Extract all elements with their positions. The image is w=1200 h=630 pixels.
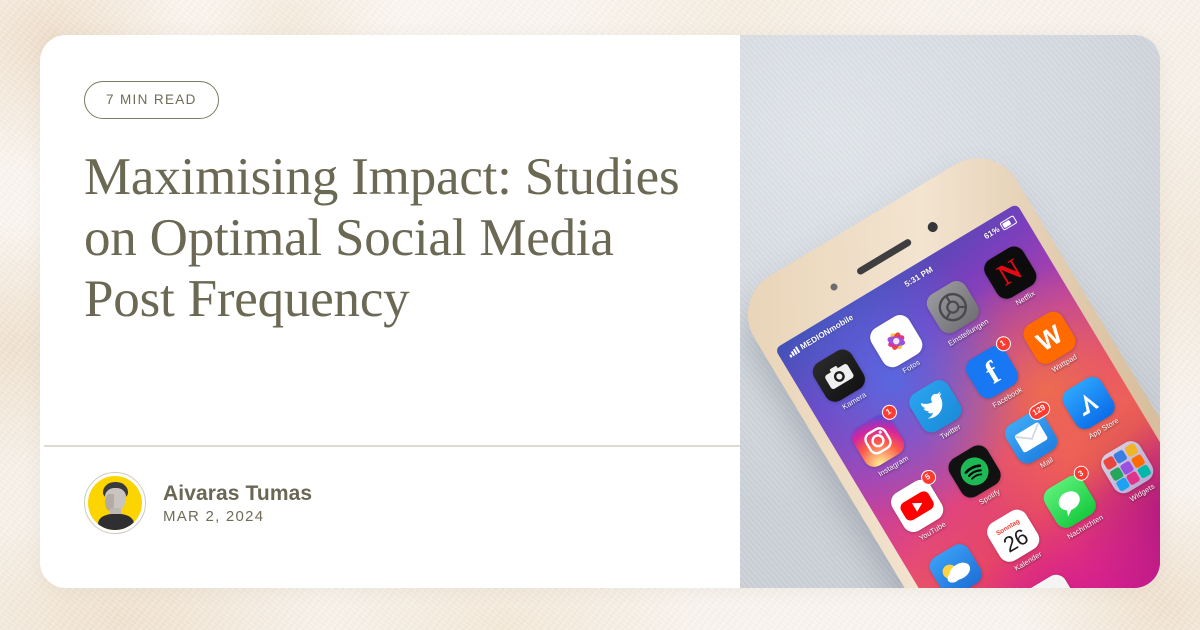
article-hero-photo: MEDIONmobile 5:31 PM 61% KameraFotosEins… <box>740 35 1160 588</box>
author-meta: Aivaras Tumas MAR 2, 2024 <box>163 483 312 524</box>
read-time-badge: 7 MIN READ <box>84 81 219 119</box>
signal-bars-icon <box>787 346 800 358</box>
article-card: 7 MIN READ Maximising Impact: Studies on… <box>40 35 1160 588</box>
publish-date: MAR 2, 2024 <box>163 509 312 524</box>
avatar-portrait <box>88 476 142 530</box>
section-divider <box>44 445 742 447</box>
article-title: Maximising Impact: Studies on Optimal So… <box>84 147 684 331</box>
avatar[interactable] <box>84 472 146 534</box>
app-label: Mail <box>1038 455 1055 470</box>
author-row[interactable]: Aivaras Tumas MAR 2, 2024 <box>84 472 312 534</box>
article-text-column: 7 MIN READ Maximising Impact: Studies on… <box>40 35 740 588</box>
author-name[interactable]: Aivaras Tumas <box>163 483 312 504</box>
